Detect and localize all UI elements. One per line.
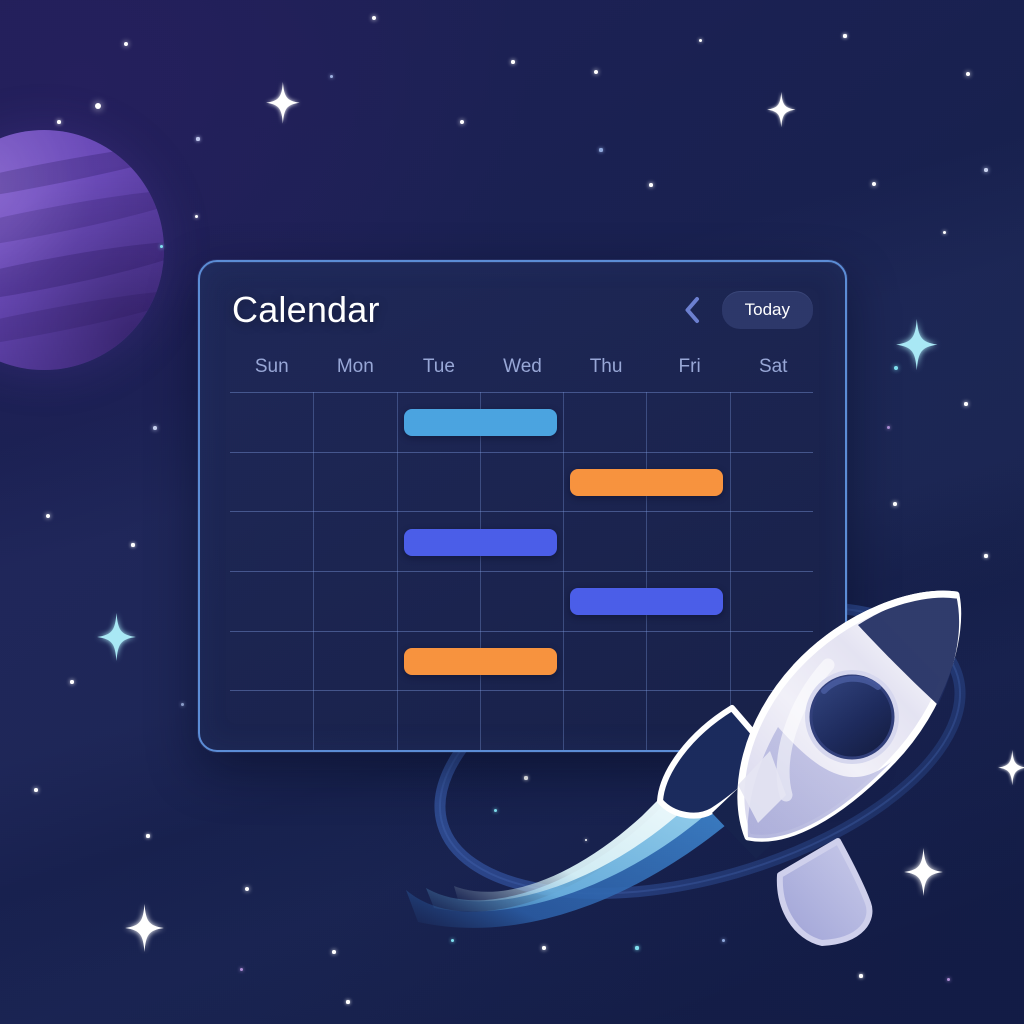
illustration-canvas: Calendar Today Sun Mon Tue Wed Thu Fri S… — [0, 0, 1024, 1024]
film-grain-overlay — [0, 0, 1024, 1024]
